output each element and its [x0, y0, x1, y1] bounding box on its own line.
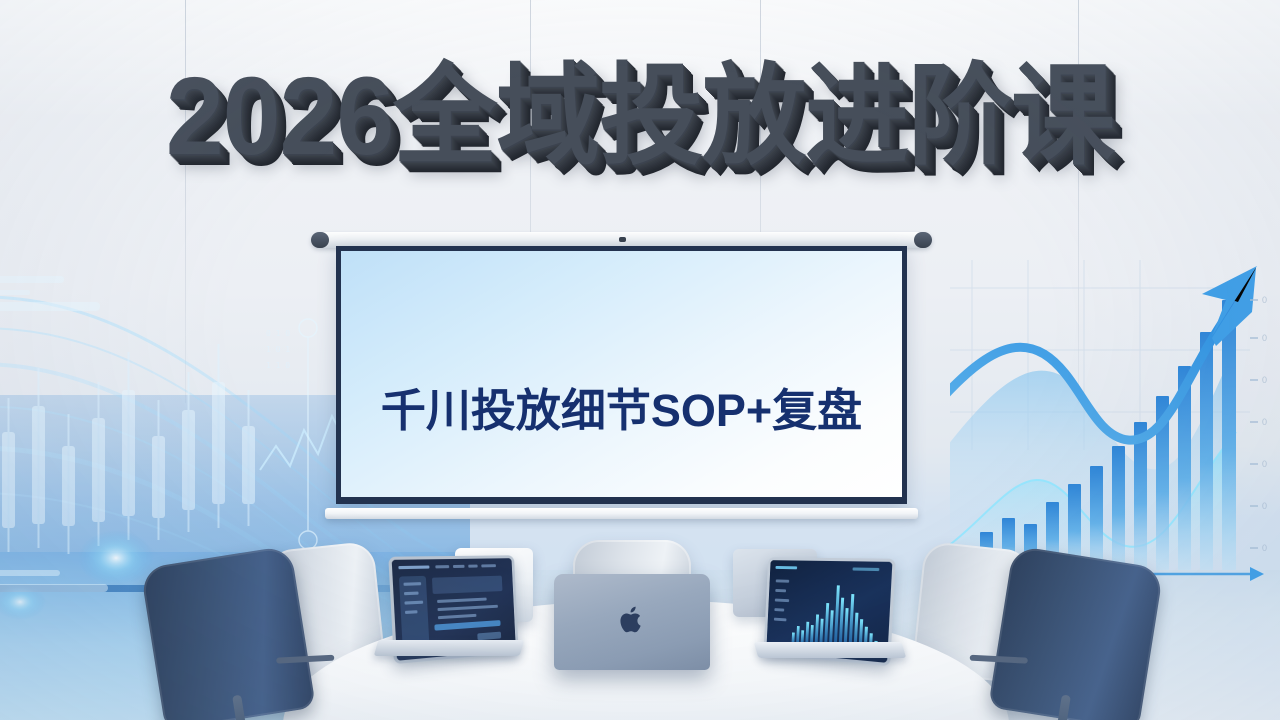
chair-backrest: [140, 545, 316, 720]
svg-text:0: 0: [1262, 501, 1267, 511]
laptop-right-open: [760, 558, 886, 654]
laptop-keyboard-base: [374, 640, 525, 656]
svg-text:0: 0: [1262, 543, 1267, 553]
chair-front-left: [140, 545, 316, 720]
chair-backrest: [988, 545, 1164, 720]
page-title: 2026全域投放进阶课: [0, 62, 1280, 172]
projector-screen: 千川投放细节SOP+复盘: [311, 232, 932, 532]
poster-canvas: 0 1 0 1 0 1 1 1 0 1 0 0 1 1 1 0 0 1 1 0 …: [0, 0, 1280, 720]
laptop-center-apple: [554, 574, 710, 670]
svg-text:0 1 0: 0 1 0: [266, 329, 290, 338]
svg-text:0: 0: [1262, 333, 1267, 343]
laptop-left-open: [392, 556, 516, 652]
projection-surface: 千川投放细节SOP+复盘: [336, 246, 907, 504]
projector-weight-bar: [325, 508, 918, 519]
laptop-keyboard-base: [754, 642, 907, 658]
svg-text:1 1 0: 1 1 0: [266, 361, 290, 370]
roller-center-mount-icon: [619, 237, 626, 242]
laptop-lid: [554, 574, 710, 670]
roller-end-cap-right: [914, 232, 932, 248]
screen-headline: 千川投放细节SOP+复盘: [341, 374, 902, 439]
svg-text:0: 0: [1262, 295, 1267, 305]
svg-text:1 0 1: 1 0 1: [266, 345, 290, 354]
roller-end-cap-left: [311, 232, 329, 248]
apple-logo-icon: [619, 605, 645, 635]
chair-front-right: [988, 545, 1164, 720]
svg-text:0: 0: [1262, 375, 1267, 385]
svg-text:0: 0: [1262, 459, 1267, 469]
svg-text:0: 0: [1262, 417, 1267, 427]
